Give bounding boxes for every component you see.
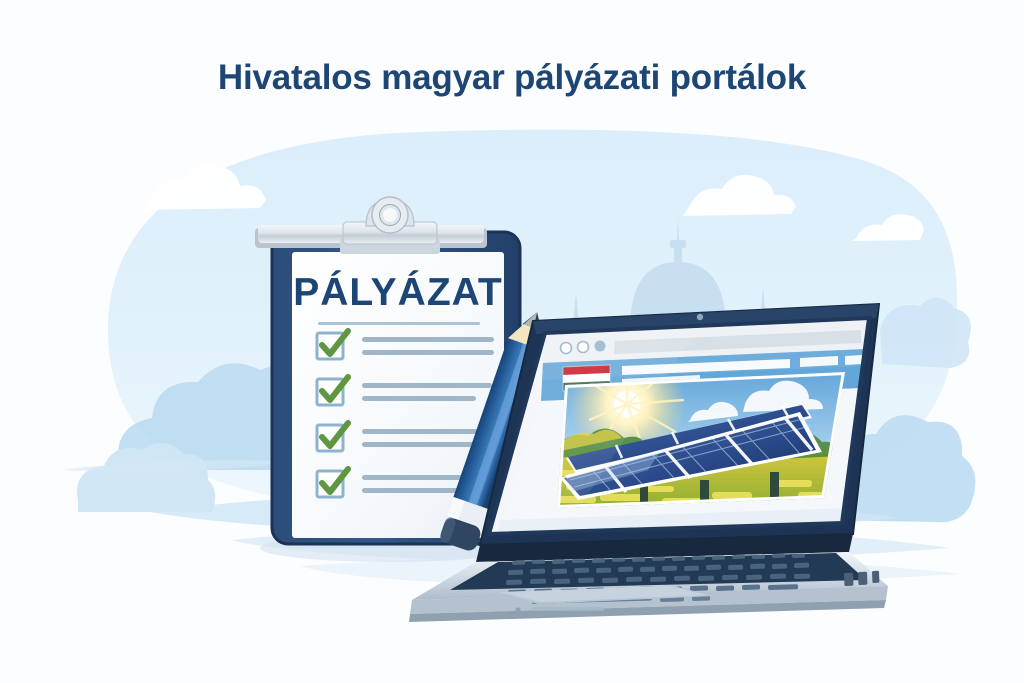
webcam-icon [697,314,703,320]
laptop-group [0,0,1024,683]
illustration-canvas: Hivatalos magyar pályázati portálok PÁLY… [0,0,1024,683]
power-led-icon [515,607,520,612]
nav-button[interactable] [845,355,862,365]
front-latch [532,607,604,611]
